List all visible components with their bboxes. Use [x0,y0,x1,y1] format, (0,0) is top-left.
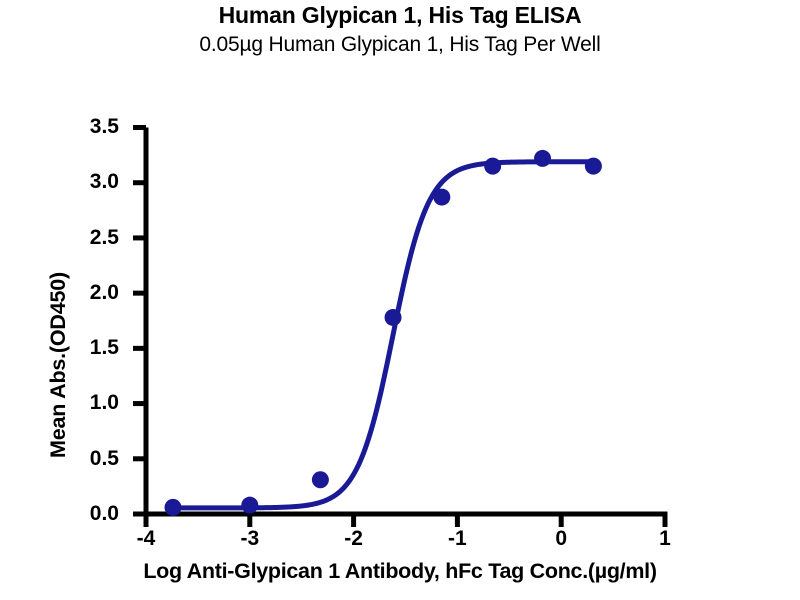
data-point [385,309,402,326]
plot-area [0,0,800,600]
series-data-points [164,150,601,516]
series-fit-curve [173,162,593,508]
data-point [164,499,181,516]
data-point [534,150,551,167]
data-point [484,158,501,175]
axes [133,128,668,528]
data-point [433,189,450,206]
chart-figure: Human Glypican 1, His Tag ELISA 0.05µg H… [0,0,800,600]
data-point [585,158,602,175]
data-point [241,497,258,514]
data-point [312,471,329,488]
